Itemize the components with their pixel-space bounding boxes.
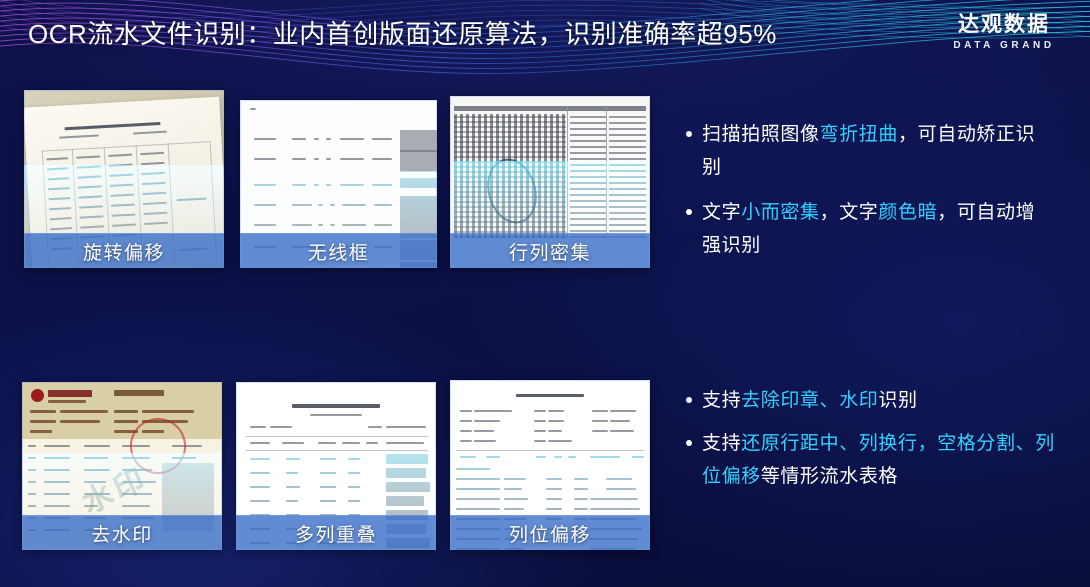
- bullet-highlight-text: 去除印章、水印: [741, 390, 878, 411]
- bullet-plain-text: 识别: [878, 390, 917, 411]
- bullet-text: 扫描拍照图像弯折扭曲，可自动矫正识别: [702, 118, 1054, 184]
- bullet-item: 扫描拍照图像弯折扭曲，可自动矫正识别: [686, 118, 1066, 184]
- bullet-plain-text: 等情形流水表格: [761, 466, 898, 487]
- bullet-item: 支持去除印章、水印识别: [686, 384, 1076, 417]
- bullet-highlight-text: 颜色暗: [878, 202, 937, 223]
- sample-card-borderless[interactable]: 无线框: [240, 100, 437, 268]
- card-caption: 多列重叠: [236, 515, 436, 550]
- bullet-plain-text: 支持: [702, 390, 741, 411]
- slide-header: OCR流水文件识别：业内首创版面还原算法，识别准确率超95% 达观数据 DATA…: [0, 0, 1090, 66]
- brand-name-cn: 达观数据: [936, 12, 1072, 37]
- bullet-text: 文字小而密集，文字颜色暗，可自动增强识别: [702, 196, 1054, 262]
- card-caption: 去水印: [22, 515, 222, 550]
- bullet-item: 文字小而密集，文字颜色暗，可自动增强识别: [686, 196, 1066, 262]
- bullet-plain-text: 扫描拍照图像: [702, 124, 820, 145]
- bullet-dot-icon: [686, 397, 692, 403]
- slide-root: OCR流水文件识别：业内首创版面还原算法，识别准确率超95% 达观数据 DATA…: [0, 0, 1090, 587]
- card-caption: 旋转偏移: [24, 233, 224, 268]
- page-title: OCR流水文件识别：业内首创版面还原算法，识别准确率超95%: [28, 18, 777, 50]
- brand-logo: 达观数据 DATA GRAND: [936, 12, 1072, 53]
- bullet-dot-icon: [686, 209, 692, 215]
- bullet-text: 支持去除印章、水印识别: [702, 384, 1076, 417]
- card-caption: 行列密集: [450, 233, 650, 268]
- card-caption: 列位偏移: [450, 515, 650, 550]
- sample-card-column-overlap[interactable]: 多列重叠: [236, 382, 436, 550]
- sample-card-remove-watermark[interactable]: 水印 去水印: [22, 382, 222, 550]
- bullet-text: 支持还原行距中、列换行，空格分割、列位偏移等情形流水表格: [702, 427, 1074, 493]
- card-caption: 无线框: [240, 233, 437, 268]
- bullet-highlight-text: 小而密集: [741, 202, 819, 223]
- bank-header-band: [22, 382, 222, 439]
- bullet-plain-text: 文字: [702, 202, 741, 223]
- sample-card-column-shift[interactable]: 列位偏移: [450, 380, 650, 550]
- brand-name-en: DATA GRAND: [936, 39, 1072, 53]
- bullet-group-top: 扫描拍照图像弯折扭曲，可自动矫正识别 文字小而密集，文字颜色暗，可自动增强识别: [686, 118, 1066, 262]
- bullet-dot-icon: [686, 440, 692, 446]
- bullet-dot-icon: [686, 131, 692, 137]
- bullet-plain-text: 支持: [702, 433, 741, 454]
- sample-card-dense-rows-cols[interactable]: 行列密集: [450, 96, 650, 268]
- bullet-plain-text: ，文字: [820, 202, 879, 223]
- bullet-highlight-text: 弯折扭曲: [820, 124, 898, 145]
- bullet-group-bottom: 支持去除印章、水印识别 支持还原行距中、列换行，空格分割、列位偏移等情形流水表格: [686, 384, 1076, 493]
- bullet-item: 支持还原行距中、列换行，空格分割、列位偏移等情形流水表格: [686, 427, 1076, 493]
- sample-card-rotation-offset[interactable]: 旋转偏移: [24, 90, 224, 268]
